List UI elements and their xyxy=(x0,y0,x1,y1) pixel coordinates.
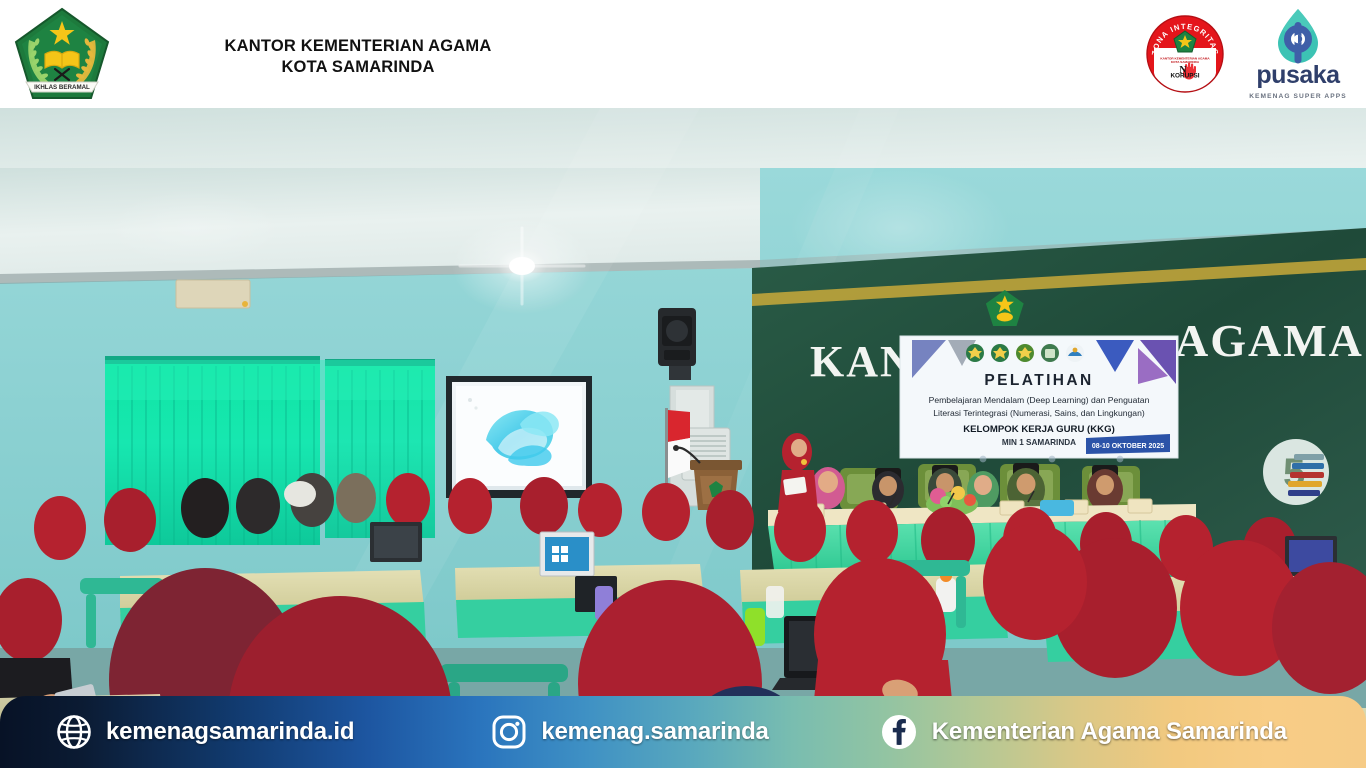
badge-5-icon: 5 xyxy=(1263,439,1329,505)
training-event-photo: KANTOR AGAMA 5 xyxy=(0,108,1366,768)
banner-line1: Pembelajaran Mendalam (Deep Learning) da… xyxy=(929,395,1150,405)
pusaka-logo: pusaka KEMENAG SUPER APPS xyxy=(1242,6,1354,102)
header-title-line2: KOTA SAMARINDA xyxy=(118,57,598,78)
pusaka-wordmark: pusaka xyxy=(1242,63,1354,88)
header-title-line1: KANTOR KEMENTERIAN AGAMA xyxy=(225,37,492,55)
pusaka-tagline: KEMENAG SUPER APPS xyxy=(1242,93,1354,100)
footer-website-link[interactable]: kemenagsamarinda.id xyxy=(56,714,354,750)
facebook-icon xyxy=(880,713,918,751)
kemenag-logo-icon: IKHLAS BERAMAL xyxy=(12,6,112,104)
header-logos: ZONA INTEGRITAS KANTOR KEMENTERIAN AGAMA… xyxy=(1146,4,1354,104)
footer-facebook-label: Kementerian Agama Samarinda xyxy=(932,718,1287,746)
social-footer-bar: kemenagsamarinda.id kemenag.samarinda Ke… xyxy=(0,696,1366,768)
banner-date: 08-10 OKTOBER 2025 xyxy=(1092,443,1164,450)
social-links: kemenagsamarinda.id kemenag.samarinda Ke… xyxy=(0,696,1366,768)
instagram-icon xyxy=(491,714,527,750)
footer-instagram-label: kemenag.samarinda xyxy=(541,718,768,746)
page-header: IKHLAS BERAMAL KANTOR KEMENTERIAN AGAMA … xyxy=(0,0,1366,108)
pusaka-droplet-icon xyxy=(1242,6,1354,68)
footer-website-label: kemenagsamarinda.id xyxy=(106,718,354,746)
header-title: KANTOR KEMENTERIAN AGAMA KOTA SAMARINDA xyxy=(118,36,598,78)
banner-school: MIN 1 SAMARINDA xyxy=(1002,438,1076,447)
banner-heading: PELATIHAN xyxy=(984,372,1093,389)
banner-line2: Literasi Terintegrasi (Numerasi, Sains, … xyxy=(933,408,1145,418)
wall-sign-right: AGAMA xyxy=(1175,315,1364,366)
zona-integritas-badge-icon: ZONA INTEGRITAS KANTOR KEMENTERIAN AGAMA… xyxy=(1146,15,1224,93)
footer-instagram-link[interactable]: kemenag.samarinda xyxy=(491,714,768,750)
banner-org: KELOMPOK KERJA GURU (KKG) xyxy=(963,424,1115,435)
logo-motto: IKHLAS BERAMAL xyxy=(34,84,90,91)
svg-text:KORUPSI: KORUPSI xyxy=(1170,73,1199,80)
poster-page: IKHLAS BERAMAL KANTOR KEMENTERIAN AGAMA … xyxy=(0,0,1366,768)
footer-facebook-link[interactable]: Kementerian Agama Samarinda xyxy=(880,713,1287,751)
svg-text:KOTA SAMARINDA: KOTA SAMARINDA xyxy=(1171,60,1200,64)
event-banner: PELATIHAN Pembelajaran Mendalam (Deep Le… xyxy=(900,336,1178,462)
globe-icon xyxy=(56,714,92,750)
